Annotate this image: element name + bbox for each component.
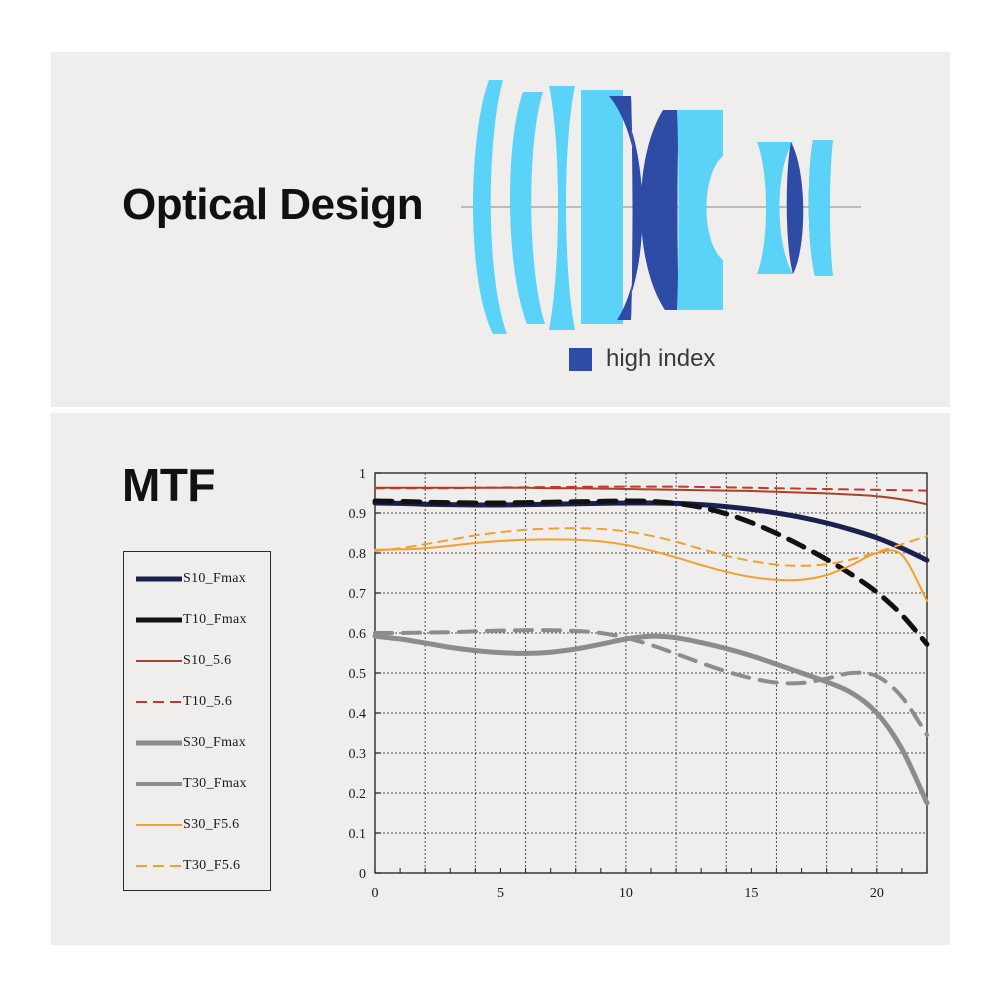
high-index-swatch bbox=[569, 348, 592, 371]
legend-item-label: S10_5.6 bbox=[183, 653, 231, 669]
legend-item-label: T10_5.6 bbox=[183, 694, 232, 710]
y-tick-label: 0.4 bbox=[349, 707, 367, 722]
y-tick-label: 0.9 bbox=[349, 507, 367, 522]
y-tick-label: 0.1 bbox=[349, 827, 367, 842]
legend-item-s10-5-6[interactable]: S10_5.6 bbox=[124, 640, 270, 681]
legend-swatch-icon bbox=[136, 777, 182, 791]
high-index-label: high index bbox=[606, 345, 715, 373]
legend-item-label: T30_Fmax bbox=[183, 776, 247, 792]
optical-legend: high index bbox=[569, 345, 715, 373]
mtf-plot: 00.10.20.30.40.50.60.70.80.9105101520 bbox=[331, 461, 941, 931]
legend-item-t10-5-6[interactable]: T10_5.6 bbox=[124, 681, 270, 722]
x-tick-label: 10 bbox=[619, 886, 633, 901]
lens-element-3 bbox=[549, 86, 575, 330]
lens-element-9-high-index bbox=[787, 142, 804, 274]
lens-diagram bbox=[451, 62, 871, 352]
page-root: Optical Design bbox=[0, 0, 999, 999]
x-tick-label: 15 bbox=[744, 886, 758, 901]
y-tick-label: 0.5 bbox=[349, 667, 367, 682]
x-tick-label: 0 bbox=[372, 886, 379, 901]
lens-element-11 bbox=[809, 140, 833, 276]
mtf-legend-box: S10_FmaxT10_FmaxS10_5.6T10_5.6S30_FmaxT3… bbox=[123, 551, 271, 891]
legend-item-t30-f5-6[interactable]: T30_F5.6 bbox=[124, 845, 270, 886]
x-tick-label: 5 bbox=[497, 886, 504, 901]
y-tick-label: 0.7 bbox=[349, 587, 367, 602]
y-tick-label: 0.2 bbox=[349, 787, 367, 802]
legend-item-s10-fmax[interactable]: S10_Fmax bbox=[124, 558, 270, 599]
mtf-panel: MTF S10_FmaxT10_FmaxS10_5.6T10_5.6S30_Fm… bbox=[51, 413, 950, 945]
legend-item-s30-fmax[interactable]: S30_Fmax bbox=[124, 722, 270, 763]
y-tick-label: 0.8 bbox=[349, 547, 367, 562]
legend-swatch-icon bbox=[136, 613, 182, 627]
y-tick-label: 0.6 bbox=[349, 627, 367, 642]
legend-swatch-icon bbox=[136, 695, 182, 709]
legend-swatch-icon bbox=[136, 654, 182, 668]
legend-item-t30-fmax[interactable]: T30_Fmax bbox=[124, 763, 270, 804]
legend-swatch-icon bbox=[136, 572, 182, 586]
y-tick-label: 0 bbox=[359, 867, 366, 882]
legend-swatch-icon bbox=[136, 736, 182, 750]
mtf-title: MTF bbox=[122, 458, 215, 512]
lens-element-7 bbox=[677, 110, 723, 310]
legend-item-label: T30_F5.6 bbox=[183, 858, 240, 874]
legend-item-s30-f5-6[interactable]: S30_F5.6 bbox=[124, 804, 270, 845]
x-tick-label: 20 bbox=[870, 886, 884, 901]
legend-item-label: S30_F5.6 bbox=[183, 817, 239, 833]
legend-item-label: T10_Fmax bbox=[183, 612, 247, 628]
legend-item-label: S30_Fmax bbox=[183, 735, 246, 751]
legend-item-t10-fmax[interactable]: T10_Fmax bbox=[124, 599, 270, 640]
optical-design-panel: Optical Design bbox=[51, 52, 950, 407]
y-tick-label: 1 bbox=[359, 467, 366, 482]
lens-element-6-high-index bbox=[641, 110, 679, 310]
legend-item-label: S10_Fmax bbox=[183, 571, 246, 587]
lens-element-2 bbox=[510, 92, 545, 324]
lens-element-4 bbox=[581, 90, 623, 324]
y-tick-label: 0.3 bbox=[349, 747, 367, 762]
optical-design-title: Optical Design bbox=[122, 180, 423, 230]
legend-swatch-icon bbox=[136, 818, 182, 832]
legend-swatch-icon bbox=[136, 859, 182, 873]
